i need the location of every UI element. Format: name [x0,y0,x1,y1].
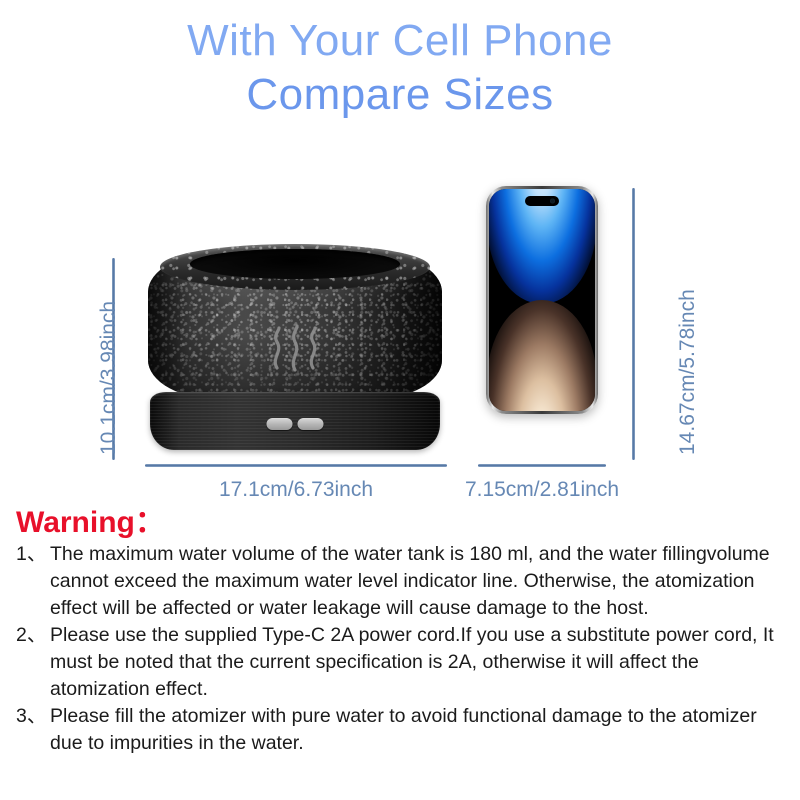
power-button[interactable] [267,418,293,430]
wallpaper-bottom-gradient [489,300,595,411]
product-stage: 10.1cm/3.98inch 14.67cm/5.78inch 17.1cm/… [0,0,800,500]
warning-item: 1、 The maximum water volume of the water… [16,541,786,622]
mist-waves-icon [267,324,323,372]
wallpaper-top-gradient [489,189,595,304]
phone-width-line [478,464,606,467]
phone-screen [489,189,595,411]
phone-width-label: 7.15cm/2.81inch [452,478,632,502]
humidifier-width-label: 17.1cm/6.73inch [145,478,447,502]
humidifier-width-line [145,464,447,467]
warning-item: 3、 Please fill the atomizer with pure wa… [16,703,786,757]
warning-item: 2、 Please use the supplied Type-C 2A pow… [16,622,786,703]
warning-item-text: Please fill the atomizer with pure water… [50,703,786,757]
warning-item-number: 1、 [16,541,50,568]
mist-outlet-opening [190,249,400,279]
warning-item-number: 3、 [16,703,50,730]
warning-item-text: The maximum water volume of the water ta… [50,541,786,622]
phone-height-line [632,188,635,460]
humidifier-top-rim [160,244,430,290]
humidifier-height-label: 10.1cm/3.98inch [97,301,121,455]
warning-title: Warning： [16,506,786,540]
warning-item-number: 2、 [16,622,50,649]
cell-phone-image [486,186,598,414]
product-comparison-infographic: With Your Cell Phone Compare Sizes [0,0,800,800]
dynamic-island [525,196,559,206]
warning-section: Warning： 1、 The maximum water volume of … [16,506,786,757]
humidifier-control-buttons [267,418,324,430]
front-camera-icon [550,199,555,204]
phone-height-label: 14.67cm/5.78inch [676,289,700,455]
humidifier-product-image [148,252,442,450]
mode-button[interactable] [298,418,324,430]
warning-item-text: Please use the supplied Type-C 2A power … [50,622,786,703]
